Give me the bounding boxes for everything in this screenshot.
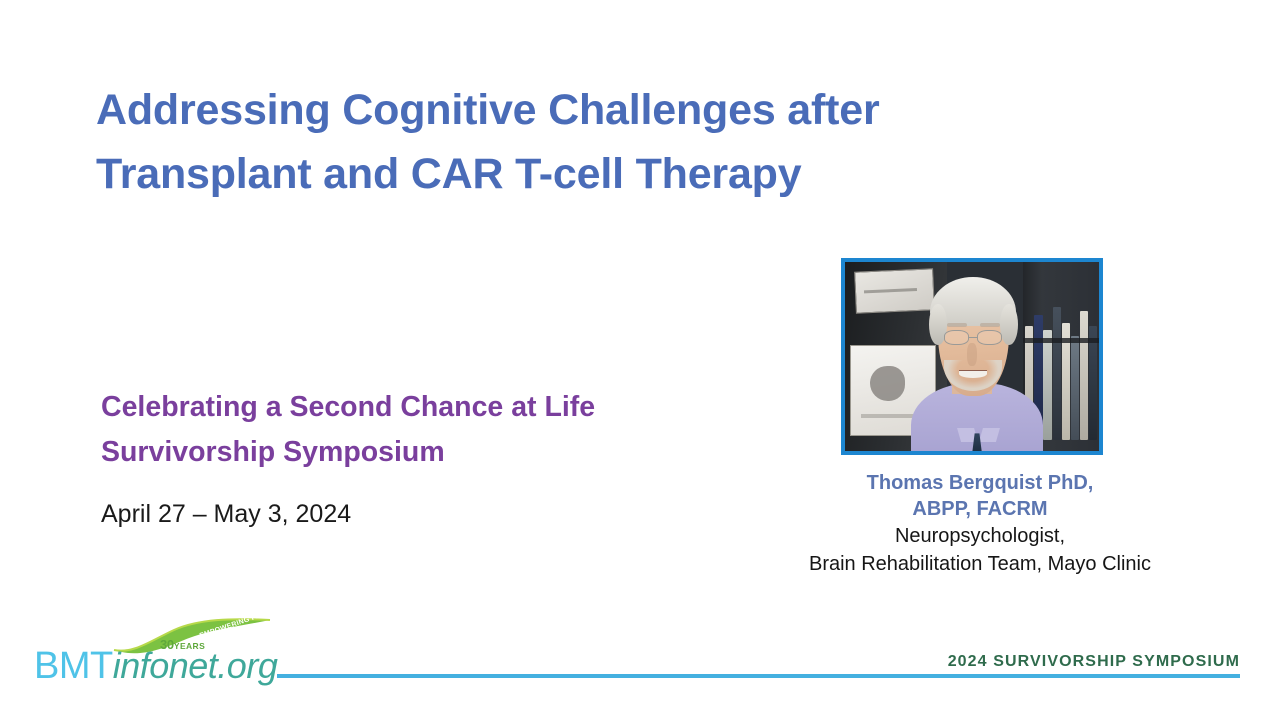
speaker-photo-image [845,262,1099,451]
photo-book [1043,330,1051,440]
photo-eyeglasses-bridge [969,337,977,339]
event-name-line-2: Survivorship Symposium [101,430,741,475]
footer-label: 2024 SURVIVORSHIP SYMPOSIUM [948,653,1240,671]
speaker-caption: Thomas Bergquist PhD, ABPP, FACRM Neurop… [760,470,1200,578]
photo-person-eyebrow-left [947,323,967,327]
bmt-infonet-logo: 30YEARS EMPOWERING PATIENTS BMTinfonet.o… [34,618,274,690]
presentation-slide: Addressing Cognitive Challenges after Tr… [0,0,1280,720]
photo-wall-frame-upper [854,268,934,313]
photo-eyeglasses-left-lens [944,330,969,345]
speaker-name-line-2: ABPP, FACRM [760,496,1200,522]
event-name: Celebrating a Second Chance at Life Surv… [101,385,741,475]
photo-person-hair-side-right [1000,304,1018,346]
photo-book [1080,311,1088,440]
speaker-photo [841,258,1103,455]
logo-brand-primary: BMT [34,645,113,687]
speaker-role-line-2: Brain Rehabilitation Team, Mayo Clinic [760,550,1200,578]
photo-shelf-divider [1023,338,1099,344]
slide-title: Addressing Cognitive Challenges after Tr… [96,78,1056,206]
photo-eyeglasses-right-lens [977,330,1002,345]
photo-shirt-collar-right [979,428,1000,442]
footer-divider [277,674,1240,678]
photo-book [1071,336,1079,440]
photo-book [1053,307,1061,439]
speaker-name-line-1: Thomas Bergquist PhD, [760,470,1200,496]
logo-wordmark: BMTinfonet.org [34,644,277,696]
photo-book [1089,326,1097,439]
photo-person-eyebrow-right [980,323,1000,327]
logo-brand-secondary: infonet.org [113,645,278,686]
slide-title-line-2: Transplant and CAR T-cell Therapy [96,142,1056,206]
slide-title-line-1: Addressing Cognitive Challenges after [96,78,1056,142]
event-dates: April 27 – May 3, 2024 [101,500,351,529]
speaker-role-line-1: Neuropsychologist, [760,522,1200,550]
event-name-line-1: Celebrating a Second Chance at Life [101,385,741,430]
